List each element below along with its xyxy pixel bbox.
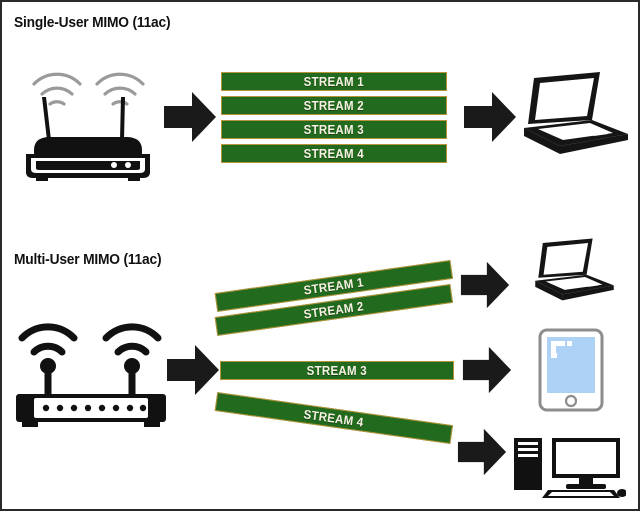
stream-bar: STREAM 4	[215, 392, 453, 444]
multi-user-desktop	[510, 434, 626, 500]
multi-user-flow-arrow	[165, 343, 221, 397]
multi-user-delivery-arrow-laptop	[457, 260, 513, 310]
stream-label: STREAM 2	[304, 99, 364, 113]
stream-bar: STREAM 1	[221, 72, 447, 91]
single-user-section-title: Single-User MIMO (11ac)	[14, 15, 170, 31]
stream-bar: STREAM 2	[221, 96, 447, 115]
multi-user-tablet	[538, 328, 604, 412]
multi-user-delivery-arrow-tablet	[459, 345, 515, 395]
stream-bar: STREAM 4	[221, 144, 447, 163]
stream-bar: STREAM 3	[221, 120, 447, 139]
block-arrow-right-icon	[462, 90, 518, 144]
laptop-icon	[514, 234, 632, 314]
laptop-icon	[516, 66, 632, 172]
multi-user-delivery-arrow-desktop	[454, 427, 510, 477]
multi-user-router	[8, 308, 174, 430]
single-user-delivery-arrow	[462, 90, 518, 144]
block-arrow-right-icon	[454, 427, 510, 477]
stream-label: STREAM 1	[304, 75, 364, 89]
single-user-flow-arrow	[162, 90, 218, 144]
stream-label: STREAM 2	[303, 299, 365, 321]
diagram-canvas: Single-User MIMO (11ac) Multi-User MIMO …	[0, 0, 640, 511]
stream-label: STREAM 4	[303, 407, 365, 429]
stream-label: STREAM 4	[304, 147, 364, 161]
block-arrow-right-icon	[459, 345, 515, 395]
stream-label: STREAM 1	[303, 275, 365, 297]
block-arrow-right-icon	[457, 260, 513, 310]
stream-label: STREAM 3	[307, 364, 367, 378]
desktop-computer-icon	[510, 434, 626, 500]
multi-user-section-title: Multi-User MIMO (11ac)	[14, 252, 161, 268]
single-user-router	[12, 54, 162, 182]
tablet-icon	[538, 328, 604, 412]
wifi-modem-router-icon	[8, 308, 174, 430]
stream-label: STREAM 3	[304, 123, 364, 137]
wifi-router-icon	[12, 54, 162, 182]
block-arrow-right-icon	[165, 343, 221, 397]
single-user-laptop	[516, 66, 632, 172]
stream-bar: STREAM 3	[220, 361, 454, 380]
block-arrow-right-icon	[162, 90, 218, 144]
multi-user-laptop	[514, 234, 632, 314]
